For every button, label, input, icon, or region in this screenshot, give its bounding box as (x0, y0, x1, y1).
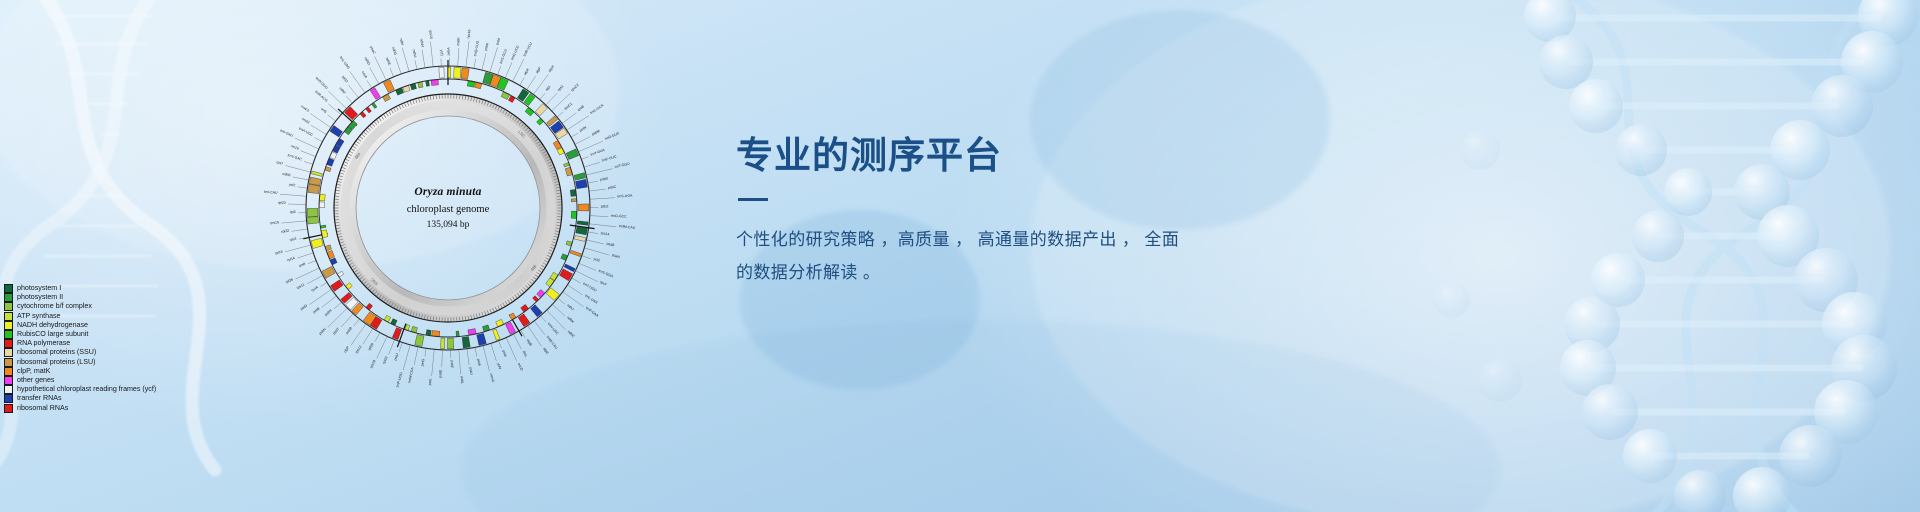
gene-label: trnM-CAU (546, 335, 559, 350)
gene-label: rpoC2 (570, 83, 580, 92)
gene-feature (571, 199, 576, 202)
gene-label: ndhG (391, 46, 398, 56)
gene-feature (566, 149, 579, 160)
legend-item: photosystem I (4, 284, 156, 293)
gene-leader-line (499, 341, 502, 348)
gene-label: trnY-GUA (590, 148, 606, 157)
gene-leader-line (483, 346, 489, 371)
gene-feature (531, 305, 543, 317)
gene-feature (564, 163, 570, 167)
gene-label: rrn4.5 (300, 104, 310, 113)
gene-label: rps3 (289, 237, 297, 242)
legend-color-swatch (4, 385, 13, 394)
gene-label: trnT-GGU (614, 162, 630, 170)
legend-item: clpP, matK (4, 367, 156, 376)
legend-item-label: ATP synthase (17, 312, 61, 321)
gene-label: trnS-GCU (499, 48, 508, 64)
gene-label: ccsA (361, 70, 369, 79)
gene-feature (553, 141, 561, 150)
gene-feature (319, 202, 324, 208)
gene-label: psbE (438, 369, 442, 378)
gene-leader-line (285, 165, 310, 172)
gene-label: rpoA (310, 285, 319, 293)
gene-label: psaB (606, 242, 615, 248)
gene-label: trnT-UGU (582, 282, 597, 293)
page-title: 专业的测序平台 (736, 134, 1376, 178)
gene-leader-line (296, 268, 319, 279)
gene-label: ndhA (412, 49, 418, 58)
gene-feature (311, 238, 323, 248)
gene-feature (308, 217, 319, 224)
gene-label: psbT (332, 326, 341, 335)
gene-label: psbI (495, 38, 501, 46)
gene-leader-line (490, 47, 498, 71)
gene-leader-line (285, 245, 310, 252)
gene-leader-line (414, 347, 418, 365)
gene-leader-line (498, 66, 501, 74)
gene-feature (493, 329, 500, 340)
sequencing-platform-banner: psbAmatKrps16trnQ-UUGpsbKpsbItrnS-GCUtrn… (0, 0, 1920, 512)
gene-label: rbcL (522, 350, 529, 358)
gene-feature (321, 225, 326, 228)
gene-label: trnI-CAU (264, 190, 278, 195)
gene-leader-line (520, 78, 524, 85)
gene-leader-line (308, 261, 316, 264)
gene-label: rpl32 (341, 75, 349, 84)
gene-label: psaJ (393, 353, 399, 362)
gene-label: ycf3 (593, 257, 600, 263)
gene-leader-line (367, 81, 372, 88)
gene-label: trnR-UCU (523, 41, 534, 57)
gene-leader-line (341, 314, 353, 327)
gene-feature (383, 94, 391, 101)
gene-label: rrn16 (290, 144, 299, 151)
legend-item: ribosomal RNAs (4, 403, 156, 412)
gene-label: psbZ (601, 204, 610, 208)
gene-label: rpl16 (275, 250, 284, 256)
gene-feature (415, 335, 424, 347)
gene-label: rpoC1 (563, 102, 573, 111)
gene-feature (325, 167, 331, 172)
gene-label: rps8 (298, 262, 306, 268)
gene-leader-line (482, 53, 486, 69)
gene-label: psbD (600, 176, 609, 181)
gene-leader-line (363, 329, 373, 344)
gene-label: ndhC (567, 330, 576, 339)
gene-label: trnC-GCA (589, 103, 605, 115)
gene-feature (456, 331, 459, 336)
gene-leader-line (307, 276, 323, 284)
gene-label: rps7 (276, 160, 284, 166)
legend-item: RNA polymerase (4, 339, 156, 348)
legend-item-label: RNA polymerase (17, 339, 70, 348)
gene-label: rpl22 (281, 229, 289, 234)
gene-label: petA (476, 358, 481, 366)
gene-label: rpl23 (278, 201, 286, 205)
gene-leader-line (354, 319, 359, 326)
gene-leader-line (582, 157, 589, 159)
legend-color-swatch (4, 367, 13, 376)
gene-leader-line (459, 350, 461, 374)
gene-label: petG (420, 358, 425, 366)
gene-leader-line (346, 96, 352, 102)
legend-item-label: photosystem II (17, 293, 63, 302)
gene-leader-line (582, 256, 591, 259)
gene-leader-line (467, 349, 469, 365)
gene-feature (426, 81, 430, 87)
legend-color-swatch (4, 330, 13, 339)
gene-label: psbH (324, 308, 333, 317)
gene-label: ycf2 (289, 183, 296, 188)
gene-label: psbL (460, 376, 465, 384)
gene-feature (570, 250, 581, 256)
gene-feature (441, 338, 445, 349)
gene-label: trnV-GAC (287, 153, 303, 162)
gene-label: psbK (484, 42, 490, 51)
gene-label: rpoB (577, 104, 586, 112)
gene-label: psbB (345, 326, 354, 335)
gene-feature (448, 67, 451, 78)
gene-label: rps15 (428, 30, 433, 39)
gene-leader-line (506, 338, 516, 361)
gene-leader-line (298, 187, 307, 188)
legend-color-swatch (4, 404, 13, 413)
gene-leader-line (301, 151, 316, 157)
gene-label: ndhB (282, 172, 291, 178)
title-divider (738, 198, 768, 201)
gene-feature (454, 67, 461, 78)
gene-label: trnN-GUU (315, 76, 329, 90)
gene-feature (578, 204, 589, 211)
gene-leader-line (475, 348, 477, 357)
gene-leader-line (557, 112, 563, 117)
gene-leader-line (587, 240, 604, 244)
gene-leader-line (588, 181, 598, 183)
gene-feature (571, 211, 576, 218)
legend-item-label: NADH dehydrogenase (17, 321, 88, 330)
legend-item-label: transfer RNAs (17, 394, 62, 403)
legend-item: ribosomal proteins (LSU) (4, 358, 156, 367)
gene-leader-line (402, 48, 409, 71)
legend-item-label: other genes (17, 376, 54, 385)
gene-leader-line (579, 263, 596, 270)
legend-color-swatch (4, 348, 13, 357)
gene-leader-line (571, 133, 578, 137)
gene-label: rpl2 (290, 210, 296, 214)
legend-item-label: clpP, matK (17, 367, 50, 376)
legend-item: transfer RNAs (4, 394, 156, 403)
legend-color-swatch (4, 394, 13, 403)
chloroplast-genome-map: psbAmatKrps16trnQ-UUGpsbKpsbItrnS-GCUtrn… (248, 8, 648, 408)
gene-leader-line (292, 229, 307, 231)
gene-feature (320, 194, 326, 201)
gene-label: ndhJ (566, 303, 575, 311)
gene-leader-line (442, 350, 443, 367)
gene-leader-line (322, 296, 336, 307)
gene-label: cemA (489, 373, 495, 383)
gene-label: atpH (547, 64, 555, 73)
gene-label: atpA (523, 67, 530, 76)
gene-label: trnP-UGG (395, 372, 403, 388)
gene-label: atpI (545, 85, 552, 92)
gene-feature (330, 152, 337, 160)
legend-item: hypothetical chloroplast reading frames … (4, 385, 156, 394)
gene-label: trnF-GAA (585, 306, 600, 318)
legend-color-swatch (4, 339, 13, 348)
legend-color-swatch (4, 312, 13, 321)
gene-leader-line (348, 85, 358, 98)
gene-label: ndhF (338, 86, 346, 95)
gene-feature (496, 319, 504, 326)
gene-label: ycf1 (440, 50, 444, 57)
gene-feature (426, 330, 431, 336)
gene-leader-line (375, 57, 386, 80)
gene-leader-line (590, 198, 615, 200)
gene-label: psaI (501, 350, 507, 358)
gene-label: petD (300, 303, 309, 311)
gene-feature (396, 88, 404, 95)
gene-label: psaA (612, 253, 621, 259)
legend-color-swatch (4, 293, 13, 302)
legend-item-label: ribosomal RNAs (17, 404, 68, 413)
gene-label: psbC (608, 185, 617, 190)
gene-leader-line (491, 344, 496, 361)
legend-item-label: photosystem I (17, 284, 61, 293)
gene-label: rpl20 (367, 342, 374, 351)
gene-label: rps2 (557, 84, 565, 92)
gene-feature (537, 118, 544, 125)
legend-item: ATP synthase (4, 312, 156, 321)
gene-label: psaC (369, 46, 376, 56)
gene-label: trnS-UGA (617, 194, 633, 199)
gene-leader-line (540, 93, 545, 99)
gene-feature (576, 227, 587, 235)
gene-leader-line (576, 271, 598, 282)
gene-leader-line (589, 189, 605, 191)
gene-label: clpP (343, 345, 351, 353)
gene-leader-line (310, 113, 330, 127)
gene-leader-line (513, 59, 524, 81)
gene-label: ycf4 (496, 362, 502, 369)
gene-leader-line (389, 340, 395, 355)
gene-leader-line (430, 41, 433, 66)
gene-leader-line (297, 253, 312, 258)
legend-item: photosystem II (4, 293, 156, 302)
gene-label: psbA (447, 47, 451, 56)
gene-leader-line (585, 248, 610, 255)
legend-color-swatch (4, 376, 13, 385)
legend-item-label: cytochrome b/f complex (17, 302, 92, 311)
legend-item: NADH dehydrogenase (4, 321, 156, 330)
gene-leader-line (575, 137, 590, 144)
gene-label: rpl36 (285, 277, 294, 284)
gene-leader-line (527, 76, 536, 90)
gene-feature (461, 68, 469, 79)
gene-leader-line (403, 345, 410, 370)
legend-item-label: ribosomal proteins (LSU) (17, 358, 95, 367)
gene-leader-line (541, 316, 546, 322)
gene-label: trnfM-CAU (619, 224, 636, 230)
gene-feature (501, 92, 509, 100)
gene-leader-line (558, 298, 565, 304)
gene-leader-line (514, 334, 522, 349)
gene-feature (537, 289, 545, 297)
gene-label: rps19 (270, 220, 279, 225)
gene-feature (477, 333, 487, 345)
gene-feature (311, 171, 322, 176)
gene-leader-line (432, 350, 435, 376)
gene-feature (439, 67, 444, 78)
legend-item-label: RubisCO large subunit (17, 330, 88, 339)
gene-label: trnG-GCC (611, 214, 627, 219)
gene-label: ndhE (385, 57, 392, 67)
legend-color-swatch (4, 321, 13, 330)
gene-label: ndhD (364, 56, 372, 66)
gene-label: psbF (450, 360, 454, 368)
legend-color-swatch (4, 284, 13, 293)
gene-feature (447, 338, 453, 349)
gene-label: accD (517, 362, 524, 371)
gene-feature (525, 107, 534, 116)
gene-leader-line (562, 113, 576, 123)
gene-feature (506, 322, 516, 334)
gene-leader-line (351, 324, 366, 345)
description-line-1: 个性化的研究策略 ，高质量 ， 高通量的数据产出 ， 全面 (736, 230, 1179, 249)
legend-item: ribosomal proteins (SSU) (4, 348, 156, 357)
gene-leader-line (587, 169, 613, 175)
gene-leader-line (458, 48, 459, 66)
gene-label: atpE (542, 347, 550, 356)
genome-legend: photosystem Iphotosystem IIcytochrome b/… (4, 284, 156, 413)
gene-leader-line (568, 285, 583, 295)
description-line-2: 的数据分析解读 。 (736, 263, 880, 282)
gene-leader-line (546, 93, 557, 105)
gene-leader-line (422, 50, 425, 68)
gene-label: trnR-ACG (314, 90, 328, 103)
gene-leader-line (588, 232, 598, 234)
gene-leader-line (466, 41, 469, 67)
gene-label: matK (456, 37, 461, 46)
banner-description: 个性化的研究策略 ，高质量 ， 高通量的数据产出 ， 全面 的数据分析解读 。 (736, 223, 1296, 289)
gene-label: rps18 (369, 359, 376, 369)
gene-label: psbJ (468, 367, 473, 375)
gene-leader-line (590, 216, 608, 217)
gene-leader-line (375, 333, 380, 342)
gene-label: rps4 (599, 280, 607, 287)
gene-feature (570, 189, 576, 196)
gene-label: trnL-UAG (339, 56, 351, 71)
gene-label: atpB (526, 338, 533, 347)
gene-feature (521, 304, 529, 312)
gene-label: psbM (591, 129, 601, 136)
gene-label: trnI-GAU (279, 129, 294, 139)
gene-feature (574, 173, 586, 181)
gene-leader-line (280, 194, 306, 196)
gene-label: trnG-UCC (510, 44, 520, 60)
gene-feature (462, 337, 470, 348)
gene-feature (432, 331, 440, 337)
gene-leader-line (535, 321, 545, 335)
gene-label: trnS-GGA (598, 269, 614, 279)
gene-leader-line (320, 283, 326, 287)
gene-label: trnA-UGC (298, 126, 314, 137)
gene-label: rps12 (354, 345, 362, 355)
gene-leader-line (415, 60, 417, 69)
gene-label: ndhK (566, 316, 575, 325)
gene-feature (307, 208, 318, 216)
gene-feature (418, 82, 423, 88)
gene-label: trnD-GUC (604, 131, 620, 141)
gene-leader-line (282, 221, 307, 223)
gene-leader-line (521, 330, 525, 337)
gene-label: trnE-UUC (601, 154, 617, 162)
gene-label: psbN (318, 327, 327, 336)
gene-label: trnV-UAC (547, 322, 560, 336)
gene-leader-line (399, 343, 402, 351)
gene-feature (383, 80, 394, 93)
gene-leader-line (314, 137, 322, 141)
gene-feature (372, 103, 377, 109)
gene-leader-line (377, 337, 387, 359)
banner-copy: 专业的测序平台 个性化的研究策略 ，高质量 ， 高通量的数据产出 ， 全面 的数… (736, 134, 1376, 289)
gene-feature (309, 177, 321, 186)
legend-item-label: hypothetical chloroplast reading frames … (17, 385, 156, 394)
gene-label: rrn5 (320, 107, 327, 114)
gene-feature (411, 326, 417, 332)
gene-leader-line (370, 67, 379, 83)
gene-leader-line (334, 302, 341, 309)
gene-label: trnQ-UUG (473, 40, 480, 56)
gene-feature (566, 241, 572, 246)
gene-feature (327, 250, 334, 258)
gene-label: rps11 (296, 282, 305, 290)
gene-leader-line (563, 292, 583, 307)
gene-label: rrn23 (301, 117, 310, 125)
gene-leader-line (505, 62, 512, 77)
legend-item: RubisCO large subunit (4, 330, 156, 339)
gene-leader-line (572, 278, 581, 283)
gene-label: ndhI (399, 38, 405, 46)
gene-leader-line (390, 68, 394, 76)
gene-leader-line (304, 161, 312, 164)
gene-feature (574, 236, 585, 242)
gene-leader-line (396, 58, 401, 74)
gene-label: petL (428, 378, 433, 385)
gene-leader-line (328, 115, 336, 121)
gene-feature (577, 221, 588, 225)
gene-label: rps16 (466, 29, 471, 38)
gene-label: petN (579, 125, 588, 132)
gene-feature (308, 184, 320, 193)
legend-item-label: ribosomal proteins (SSU) (17, 348, 96, 357)
gene-feature (370, 88, 380, 100)
gene-label: rpl33 (382, 356, 389, 365)
gene-feature (431, 80, 439, 86)
gene-label: trnL-UAA (584, 294, 599, 306)
legend-item: other genes (4, 376, 156, 385)
legend-color-swatch (4, 358, 13, 367)
legend-color-swatch (4, 302, 13, 311)
legend-item: cytochrome b/f complex (4, 302, 156, 311)
gene-leader-line (293, 177, 308, 180)
gene-label: rps14 (600, 231, 609, 236)
gene-leader-line (553, 305, 565, 316)
gene-label: rpl14 (287, 256, 296, 262)
gene-label: petB (312, 306, 321, 314)
gene-leader-line (474, 59, 476, 68)
gene-label: trnW-CCA (407, 366, 414, 383)
gene-feature (467, 81, 475, 87)
